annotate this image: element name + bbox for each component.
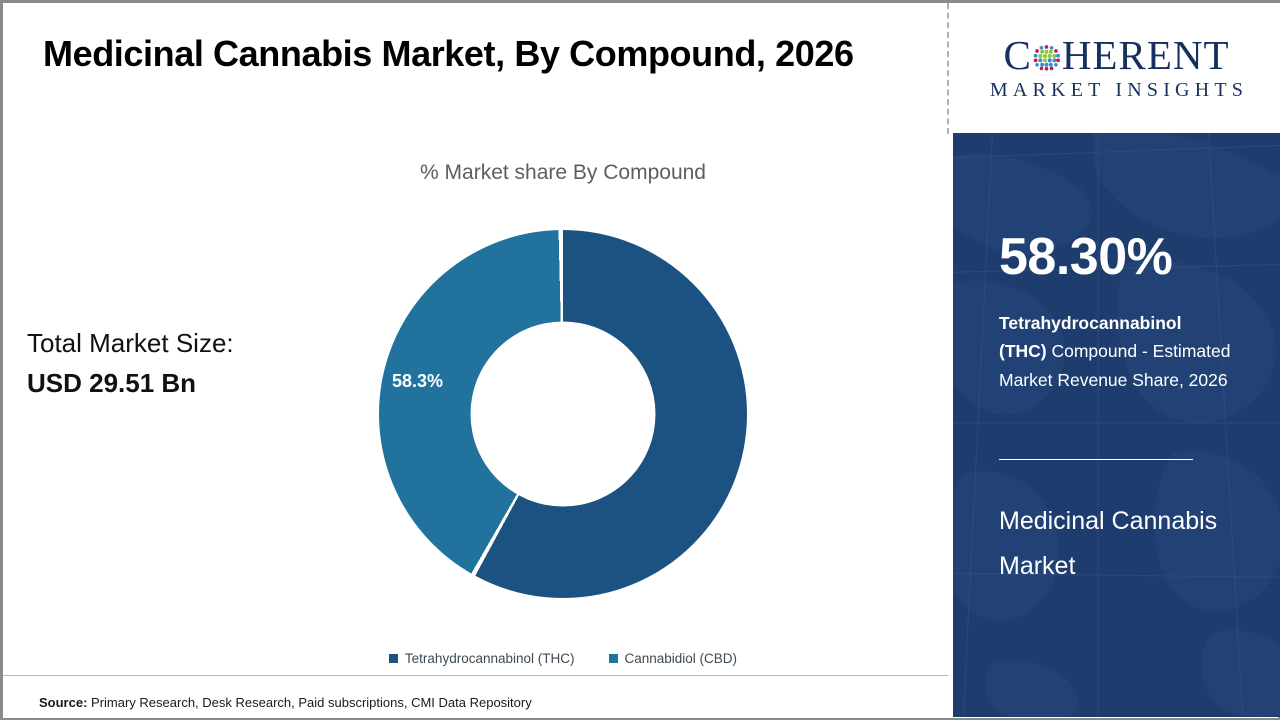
donut-slice-label-cbd: 41.7% xyxy=(310,448,361,469)
logo-letter-c: C xyxy=(1003,35,1031,76)
source-label: Source: xyxy=(39,695,87,710)
total-market-size-value: USD 29.51 Bn xyxy=(27,363,234,403)
total-market-size-block: Total Market Size: USD 29.51 Bn xyxy=(27,323,234,404)
legend-item-cbd[interactable]: Cannabidiol (CBD) xyxy=(609,651,738,666)
highlight-panel: 58.30% Tetrahydrocannabinol (THC) Compou… xyxy=(953,133,1280,717)
total-market-size-label: Total Market Size: xyxy=(27,323,234,363)
donut-slice-label-thc: 58.3% xyxy=(392,371,443,392)
market-name: Medicinal Cannabis Market xyxy=(999,499,1239,588)
legend-item-thc[interactable]: Tetrahydrocannabinol (THC) xyxy=(389,651,575,666)
logo-wordmark: C xyxy=(1003,35,1229,76)
donut-center-hole xyxy=(471,322,656,507)
chart-panel: Medicinal Cannabis Market, By Compound, … xyxy=(3,3,948,717)
brand-logo[interactable]: C xyxy=(953,3,1280,133)
infographic-canvas: Medicinal Cannabis Market, By Compound, … xyxy=(0,0,1280,720)
legend-label-thc: Tetrahydrocannabinol (THC) xyxy=(405,651,575,666)
panel-divider xyxy=(947,3,949,134)
globe-dots-icon xyxy=(1032,43,1061,72)
logo-wordmark-text: HERENT xyxy=(1062,35,1230,76)
source-line: Source: Primary Research, Desk Research,… xyxy=(39,695,532,710)
page-title: Medicinal Cannabis Market, By Compound, … xyxy=(43,33,923,74)
stat-description: Tetrahydrocannabinol (THC) Compound - Es… xyxy=(999,309,1231,394)
logo-tagline: MARKET INSIGHTS xyxy=(985,79,1248,102)
donut-chart xyxy=(379,230,747,598)
legend-label-cbd: Cannabidiol (CBD) xyxy=(625,651,738,666)
highlight-content: 58.30% Tetrahydrocannabinol (THC) Compou… xyxy=(999,133,1249,717)
source-text: Primary Research, Desk Research, Paid su… xyxy=(87,695,531,710)
footer-divider xyxy=(3,675,948,676)
legend-swatch-icon-thc xyxy=(389,654,398,663)
panel-divider-rule xyxy=(999,459,1193,460)
stat-percent-value: 58.30% xyxy=(999,231,1172,283)
legend-swatch-icon-cbd xyxy=(609,654,618,663)
